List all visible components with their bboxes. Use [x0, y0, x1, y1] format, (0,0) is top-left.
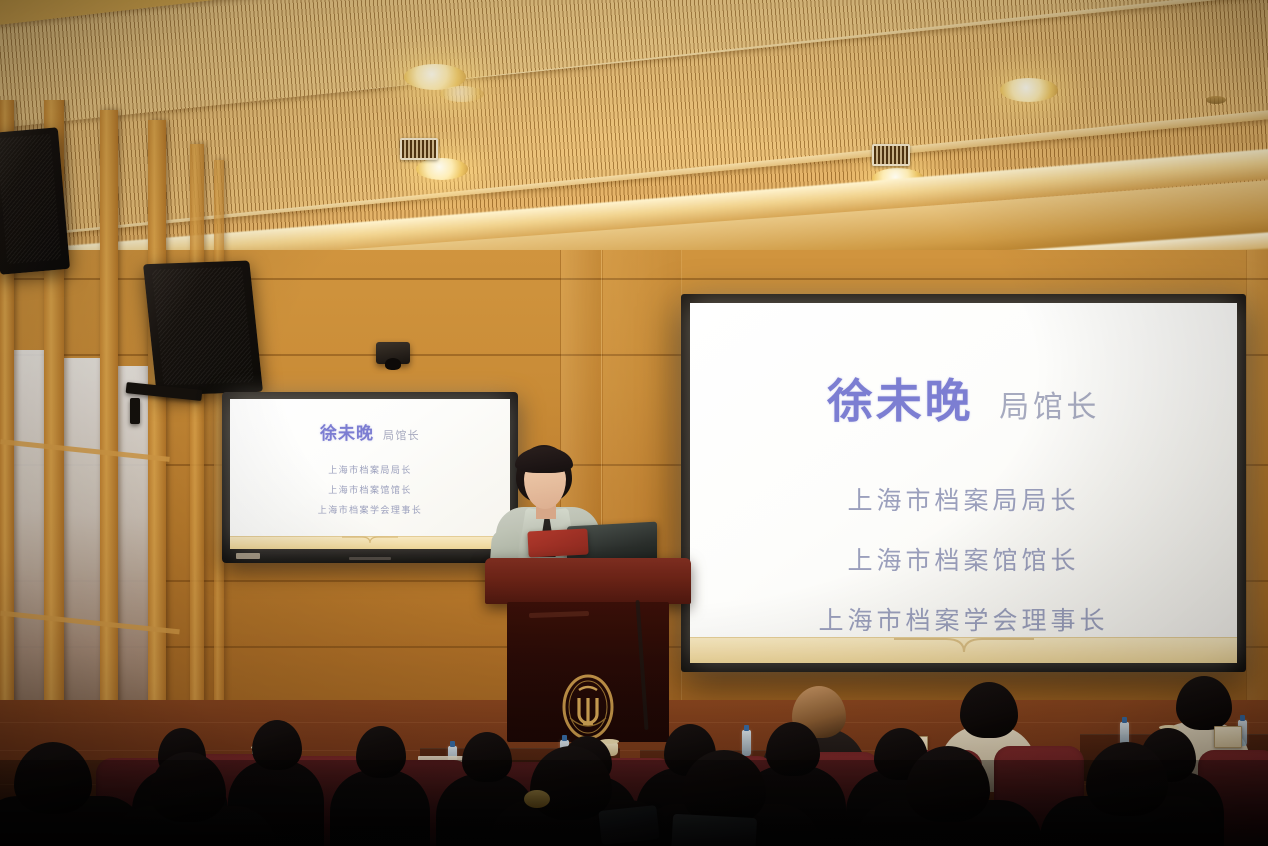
side-lcd-display[interactable]: 徐未晚 局馆长 上海市档案局局长 上海市档案馆馆长 上海市档案学会理事长 [222, 392, 518, 563]
slide-affiliation-line: 上海市档案局局长 [847, 481, 1079, 517]
wall-speaker-left [0, 127, 70, 275]
ceiling-downlight [416, 158, 468, 180]
slide-affiliation-line: 上海市档案学会理事长 [318, 503, 422, 516]
lcd-brand-logo [349, 557, 391, 560]
attendee-head [252, 720, 302, 770]
slide-affiliation-line: 上海市档案馆馆长 [328, 483, 412, 496]
attendee-head [462, 732, 512, 782]
slide-content-mirror: 徐未晚 局馆长 上海市档案局局长 上海市档案馆馆长 上海市档案学会理事长 [230, 399, 510, 549]
slide-scallop-ornament [342, 536, 398, 547]
smoke-detector-icon [1206, 96, 1226, 104]
attendee-head [1176, 676, 1232, 730]
ceiling-downlight [1000, 78, 1058, 102]
air-vent [872, 144, 910, 166]
slide-affiliation-list: 上海市档案局局长 上海市档案馆馆长 上海市档案学会理事长 [318, 463, 422, 516]
hair-clip [524, 790, 550, 808]
slide-footer-band [230, 536, 510, 549]
water-bottle [742, 730, 751, 756]
slide-speaker-role: 局馆长 [999, 382, 1100, 426]
slide-speaker-name: 徐未晚 [320, 419, 374, 444]
ceiling-camera-icon [376, 342, 410, 364]
smartphone[interactable] [598, 805, 659, 845]
attendee-head [960, 682, 1018, 738]
red-folder [527, 528, 588, 557]
lcd-brand-badge [236, 553, 260, 559]
wall-speaker-right [143, 261, 263, 396]
slide-title-row: 徐未晚 局馆长 [320, 419, 420, 444]
air-vent [400, 138, 438, 160]
speaker-grille [152, 267, 254, 386]
slide-affiliation-line: 上海市档案馆馆长 [847, 541, 1079, 577]
name-card [1214, 726, 1242, 748]
name-card-text [1215, 727, 1241, 739]
ceiling-downlight-dim [440, 86, 484, 102]
slide-speaker-role: 局馆长 [383, 427, 420, 443]
conference-hall-photo: 徐未晚 局馆长 上海市档案局局长 上海市档案馆馆长 上海市档案学会理事长 [0, 0, 1268, 846]
speaker-grille [0, 134, 61, 264]
presenter-hair-front [515, 447, 573, 473]
speaker-mount-post [130, 398, 140, 424]
attendee-body [330, 770, 430, 846]
audience-area [0, 600, 1268, 846]
slide-speaker-name: 徐未晚 [827, 365, 973, 431]
attendee-head-front [14, 742, 92, 814]
slide-affiliation-line: 上海市档案局局长 [328, 463, 412, 476]
smartphone[interactable] [671, 814, 757, 846]
attendee-head [356, 726, 406, 778]
podium-top-surface [485, 558, 691, 604]
slide-title-row: 徐未晚 局馆长 [827, 365, 1100, 431]
